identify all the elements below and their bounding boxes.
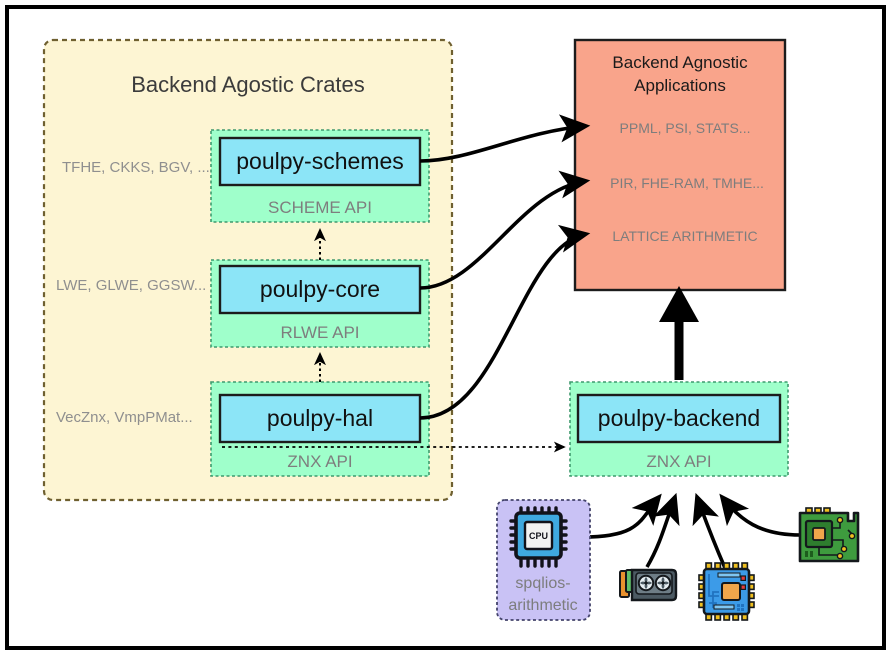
arrow-fpga-to-backend [697, 497, 725, 568]
backend-group: poulpy-backend ZNX API [570, 382, 788, 476]
spqlios-label-line2: arithmetic [508, 597, 577, 614]
module-poulpy-schemes-label: poulpy-schemes [236, 148, 403, 174]
module-poulpy-backend-label: poulpy-backend [598, 405, 760, 431]
module-poulpy-hal-label: poulpy-hal [267, 405, 373, 431]
application-item-pir: PIR, FHE-RAM, TMHE... [610, 175, 764, 191]
side-label-core: LWE, GLWE, GGSW... [56, 277, 206, 294]
side-label-hal: VecZnx, VmpPMat... [56, 409, 193, 426]
svg-text:CPU: CPU [529, 531, 548, 541]
arrow-cpu-to-backend [583, 497, 659, 537]
diagram-canvas: Backend Agostic Crates TFHE, CKKS, BGV, … [0, 0, 891, 655]
znx-api-label: ZNX API [287, 452, 352, 471]
application-item-lattice: LATTICE ARITHMETIC [612, 228, 757, 244]
spqlios-arithmetic-group: CPU spqlios- arithmetic [497, 500, 590, 620]
pcb-board-icon [800, 508, 858, 561]
backend-agnostic-applications-group: Backend Agnostic Applications PPML, PSI,… [575, 40, 785, 290]
side-label-schemes: TFHE, CKKS, BGV, ... [62, 159, 210, 176]
crates-title: Backend Agostic Crates [131, 72, 365, 97]
spqlios-label-line1: spqlios- [515, 575, 570, 592]
cpu-chip-icon: CPU [511, 508, 566, 566]
rlwe-api-label: RLWE API [280, 323, 359, 342]
diagram-svg: Backend Agostic Crates TFHE, CKKS, BGV, … [0, 0, 891, 655]
backend-api-label: ZNX API [646, 452, 711, 471]
fpga-chip-icon [699, 563, 754, 620]
application-item-ppml: PPML, PSI, STATS... [620, 120, 751, 136]
applications-title-line2: Applications [634, 76, 726, 95]
gpu-card-icon [620, 570, 676, 600]
arrow-backend-to-applications [659, 286, 699, 380]
applications-title-line1: Backend Agnostic [612, 53, 748, 72]
scheme-api-label: SCHEME API [268, 198, 372, 217]
module-poulpy-core-label: poulpy-core [260, 276, 380, 302]
arrow-pcb-to-backend [722, 497, 800, 535]
